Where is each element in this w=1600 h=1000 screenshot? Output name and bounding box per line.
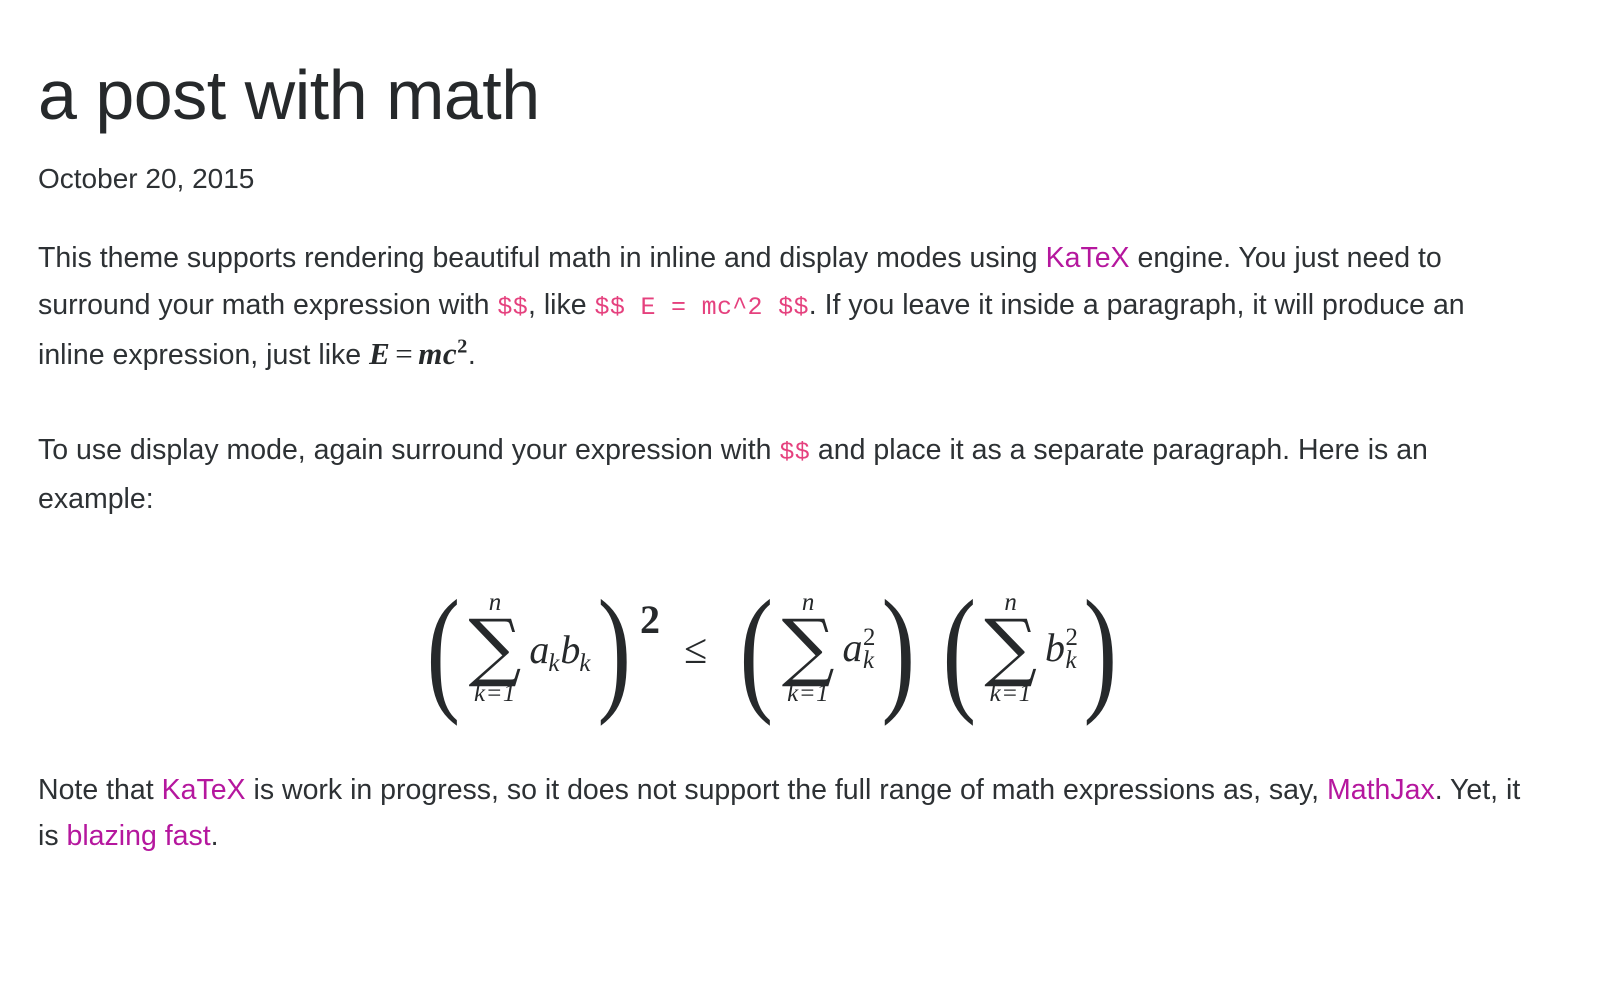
math-variable-E: E bbox=[369, 336, 390, 371]
inline-code-dollars: $$ bbox=[497, 293, 528, 322]
paragraph-note: Note that KaTeX is work in progress, so … bbox=[38, 767, 1526, 860]
sigma-icon: ∑ bbox=[782, 613, 835, 681]
math-exponent: 2 bbox=[457, 336, 468, 358]
text-fragment: . bbox=[468, 339, 476, 371]
math-relation-leq: ≤ bbox=[658, 626, 733, 674]
inline-math-emc2: E=mc2 bbox=[369, 336, 468, 371]
link-katex[interactable]: KaTeX bbox=[162, 774, 246, 806]
term-a: a bbox=[529, 627, 549, 672]
term-a: a bbox=[843, 625, 863, 670]
outer-exponent: 2 bbox=[640, 596, 660, 643]
paragraph-display-mode: To use display mode, again surround your… bbox=[38, 427, 1526, 523]
term-b-sub: k bbox=[579, 650, 590, 677]
text-fragment: , like bbox=[528, 289, 595, 321]
link-katex[interactable]: KaTeX bbox=[1046, 242, 1130, 274]
sum-lower-limit: k=1 bbox=[787, 681, 829, 706]
math-variable-mc: mc bbox=[418, 336, 457, 371]
link-blazing-fast[interactable]: blazing fast bbox=[67, 820, 211, 852]
term-b-sub: k bbox=[1066, 649, 1077, 674]
sum-lower-limit: k=1 bbox=[990, 681, 1032, 706]
sigma-icon: ∑ bbox=[469, 613, 522, 681]
math-group-rhs-2: ( n ∑ k=1 b2k ) bbox=[936, 590, 1124, 706]
math-group-rhs-1: ( n ∑ k=1 a2k ) bbox=[733, 590, 921, 706]
math-row: ( n ∑ k=1 akbk ) 2 ≤ ( n ∑ k=1 a2k bbox=[420, 590, 1124, 706]
text-fragment: To use display mode, again surround your… bbox=[38, 434, 779, 466]
term-b: b bbox=[1045, 625, 1065, 670]
text-fragment: This theme supports rendering beautiful … bbox=[38, 242, 1046, 274]
paragraph-intro: This theme supports rendering beautiful … bbox=[38, 235, 1526, 379]
summation-1: n ∑ k=1 bbox=[469, 590, 522, 706]
math-operator-equals: = bbox=[390, 336, 418, 371]
term-a-sub: k bbox=[863, 649, 874, 674]
summation-2: n ∑ k=1 bbox=[782, 590, 835, 706]
sigma-icon: ∑ bbox=[984, 613, 1037, 681]
term-b: b bbox=[560, 627, 580, 672]
term-a-sub: k bbox=[548, 650, 559, 677]
term-a-subsup: 2k bbox=[863, 626, 875, 674]
post-date: October 20, 2015 bbox=[38, 162, 1526, 196]
text-fragment: . bbox=[211, 820, 219, 852]
sum-lower-limit: k=1 bbox=[474, 681, 516, 706]
math-group-lhs: ( n ∑ k=1 akbk ) 2 bbox=[420, 590, 658, 706]
page-title: a post with math bbox=[38, 58, 1526, 134]
display-math-cauchy-schwarz: ( n ∑ k=1 akbk ) 2 ≤ ( n ∑ k=1 a2k bbox=[38, 573, 1526, 723]
math-term-ak2: a2k bbox=[843, 624, 875, 676]
summation-3: n ∑ k=1 bbox=[984, 590, 1037, 706]
term-b-subsup: 2k bbox=[1066, 626, 1078, 674]
inline-code-emc2: $$ E = mc^2 $$ bbox=[595, 293, 809, 322]
post-page: a post with math October 20, 2015 This t… bbox=[0, 0, 1600, 860]
math-term-akbk: akbk bbox=[529, 626, 591, 673]
inline-code-dollars: $$ bbox=[779, 438, 810, 467]
link-mathjax[interactable]: MathJax bbox=[1327, 774, 1435, 806]
text-fragment: Note that bbox=[38, 774, 162, 806]
math-term-bk2: b2k bbox=[1045, 624, 1077, 676]
text-fragment: is work in progress, so it does not supp… bbox=[246, 774, 1327, 806]
